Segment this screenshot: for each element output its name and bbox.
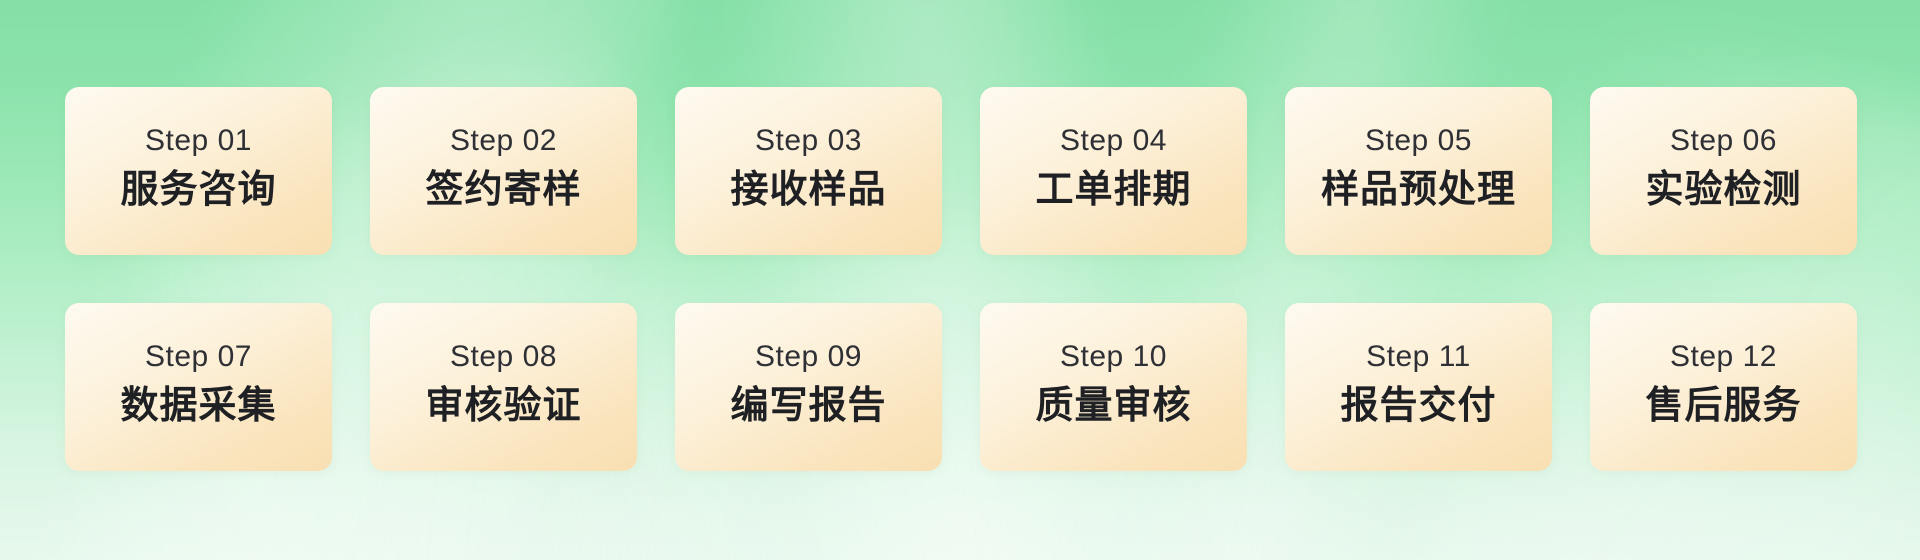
step-number: Step 02 [450,126,557,156]
step-title: 质量审核 [1035,386,1191,427]
step-number: Step 03 [755,126,862,156]
step-number: Step 01 [145,126,252,156]
step-card[interactable]: Step 02 签约寄样 [370,87,637,255]
step-title: 服务咨询 [120,170,276,211]
step-number: Step 05 [1365,126,1472,156]
step-card[interactable]: Step 03 接收样品 [675,87,942,255]
step-title: 审核验证 [425,386,581,427]
step-number: Step 12 [1670,342,1777,372]
step-number: Step 08 [450,342,557,372]
step-title: 编写报告 [730,386,886,427]
step-title: 样品预处理 [1321,170,1516,211]
step-card[interactable]: Step 01 服务咨询 [65,87,332,255]
step-card[interactable]: Step 12 售后服务 [1590,303,1857,471]
step-number: Step 10 [1060,342,1167,372]
step-title: 售后服务 [1645,386,1801,427]
step-card[interactable]: Step 10 质量审核 [980,303,1247,471]
step-card-grid: Step 01 服务咨询 Step 02 签约寄样 Step 03 接收样品 S… [65,87,1855,471]
process-flow-banner: Step 01 服务咨询 Step 02 签约寄样 Step 03 接收样品 S… [0,0,1920,560]
step-title: 实验检测 [1645,170,1801,211]
step-card[interactable]: Step 08 审核验证 [370,303,637,471]
step-card[interactable]: Step 11 报告交付 [1285,303,1552,471]
step-card[interactable]: Step 06 实验检测 [1590,87,1857,255]
step-title: 数据采集 [120,386,276,427]
step-title: 签约寄样 [425,170,581,211]
step-number: Step 11 [1366,342,1471,372]
step-card[interactable]: Step 07 数据采集 [65,303,332,471]
step-title: 报告交付 [1340,386,1496,427]
step-card[interactable]: Step 04 工单排期 [980,87,1247,255]
step-card[interactable]: Step 09 编写报告 [675,303,942,471]
step-number: Step 09 [755,342,862,372]
step-number: Step 04 [1060,126,1167,156]
step-number: Step 07 [145,342,252,372]
step-number: Step 06 [1670,126,1777,156]
step-card[interactable]: Step 05 样品预处理 [1285,87,1552,255]
step-title: 工单排期 [1035,170,1191,211]
step-title: 接收样品 [730,170,886,211]
